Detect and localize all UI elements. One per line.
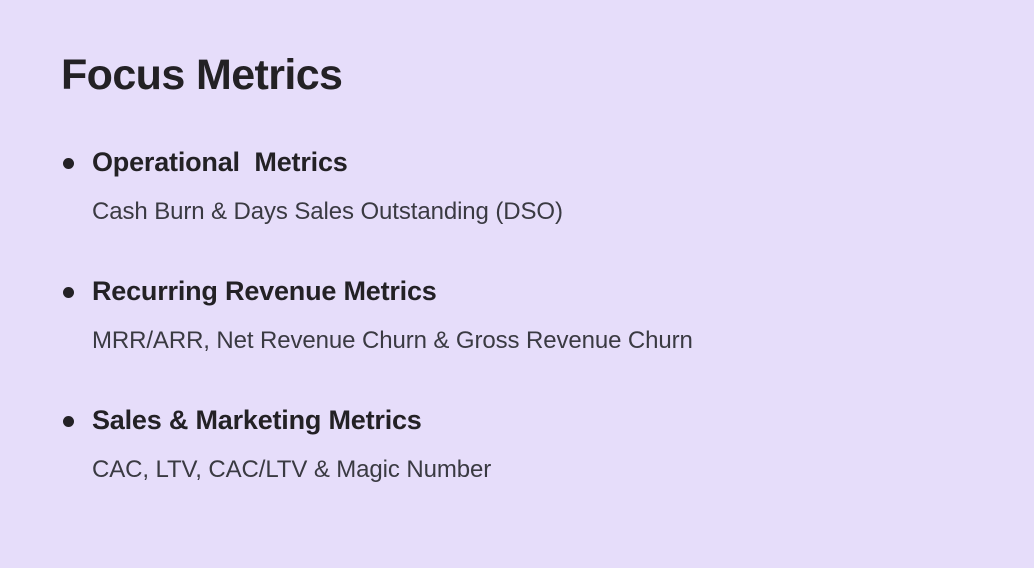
bullet-point-icon (63, 287, 74, 298)
bullet-point-icon (63, 158, 74, 169)
bullet-heading-row: Sales & Marketing Metrics (61, 404, 1001, 438)
bullet-subtext-label: CAC, LTV, CAC/LTV & Magic Number (92, 455, 1001, 485)
list-item: Sales & Marketing Metrics CAC, LTV, CAC/… (61, 404, 1001, 485)
list-item: Recurring Revenue Metrics MRR/ARR, Net R… (61, 275, 1001, 356)
bullet-heading-label: Operational Metrics (92, 146, 1001, 180)
focus-metrics-list: Operational Metrics Cash Burn & Days Sal… (61, 146, 1001, 485)
bullet-point-icon (63, 416, 74, 427)
bullet-heading-label: Sales & Marketing Metrics (92, 404, 1001, 438)
list-item: Operational Metrics Cash Burn & Days Sal… (61, 146, 1001, 227)
bullet-heading-row: Recurring Revenue Metrics (61, 275, 1001, 309)
bullet-subtext-label: Cash Burn & Days Sales Outstanding (DSO) (92, 197, 1001, 227)
slide-canvas: Focus Metrics Operational Metrics Cash B… (0, 0, 1034, 568)
bullet-subtext-label: MRR/ARR, Net Revenue Churn & Gross Reven… (92, 326, 1001, 356)
bullet-heading-row: Operational Metrics (61, 146, 1001, 180)
page-title: Focus Metrics (61, 51, 342, 100)
bullet-heading-label: Recurring Revenue Metrics (92, 275, 1001, 309)
